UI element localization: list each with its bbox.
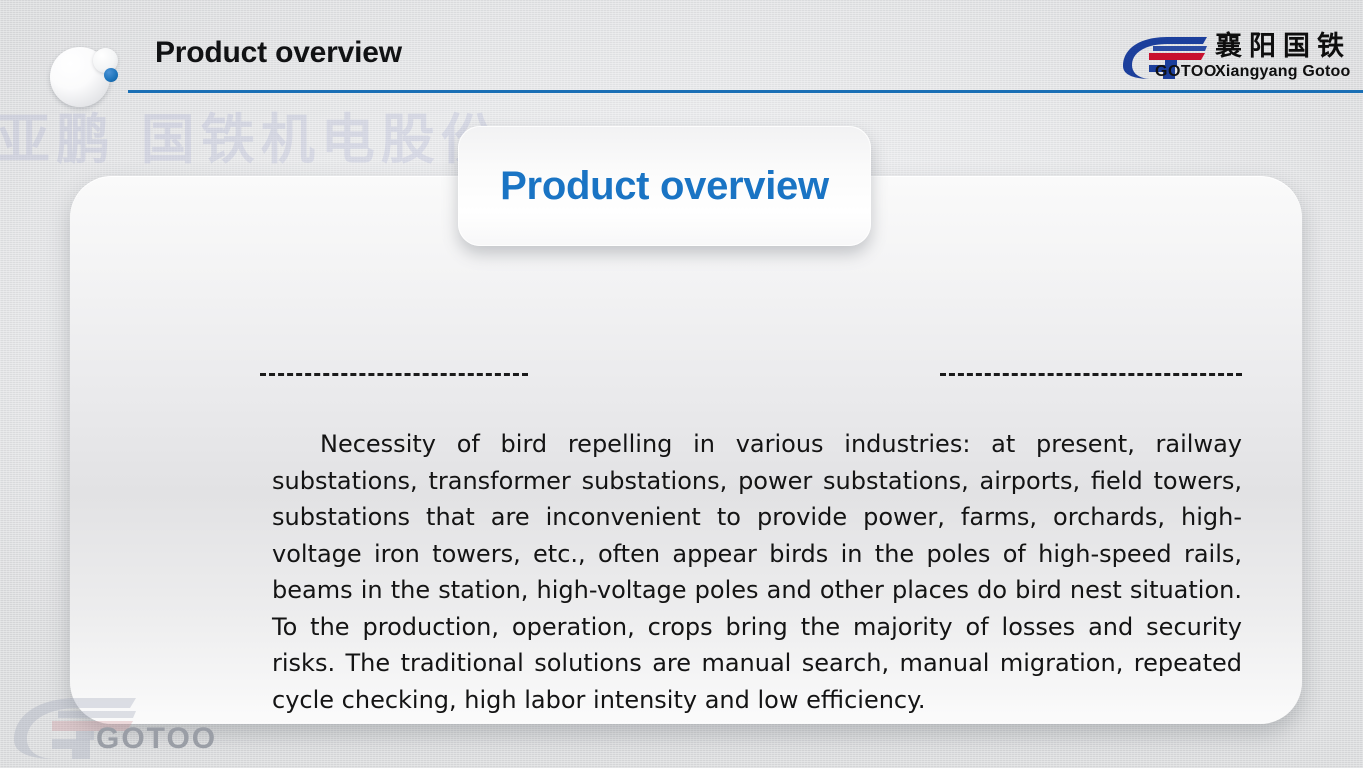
gotoo-swoosh-icon: GOTOO	[1119, 32, 1211, 82]
paragraph-1-text: Necessity of bird repelling in various i…	[272, 430, 1242, 714]
slide-header: Product overview GOTOO 襄阳国铁 Xiangyang Go…	[0, 0, 1363, 96]
dashed-rule-left	[260, 373, 528, 376]
section-title-chip: Product overview	[458, 126, 871, 246]
footer-watermark-text: GOTOO	[96, 722, 217, 756]
header-divider	[128, 90, 1363, 93]
section-title-label: Product overview	[500, 164, 829, 209]
brand-logo: GOTOO 襄阳国铁 Xiangyang Gotoo	[1119, 26, 1351, 82]
page-title: Product overview	[155, 36, 402, 70]
brand-english-name: Xiangyang Gotoo	[1215, 62, 1351, 82]
slide-canvas: 亚鹏 国铁机电股份 郝亚鹏 国铁机电股份 郝亚鹏 国铁机电股份 Product …	[0, 0, 1363, 768]
brand-names: 襄阳国铁 Xiangyang Gotoo	[1215, 32, 1351, 82]
brand-mark-text: GOTOO	[1155, 63, 1217, 81]
background-watermark-top: 亚鹏 国铁机电股份	[0, 95, 501, 174]
decorative-blue-dot-icon	[104, 68, 118, 82]
dashed-rule-right	[940, 373, 1242, 376]
paragraph-2: This program introduces a new type of so…	[272, 718, 1242, 724]
body-text: Necessity of bird repelling in various i…	[272, 426, 1242, 724]
paragraph-2-text: This program introduces a new type of so…	[272, 722, 1242, 724]
paragraph-1: Necessity of bird repelling in various i…	[272, 426, 1242, 718]
content-card: Necessity of bird repelling in various i…	[70, 176, 1302, 724]
brand-chinese-name: 襄阳国铁	[1215, 32, 1351, 62]
